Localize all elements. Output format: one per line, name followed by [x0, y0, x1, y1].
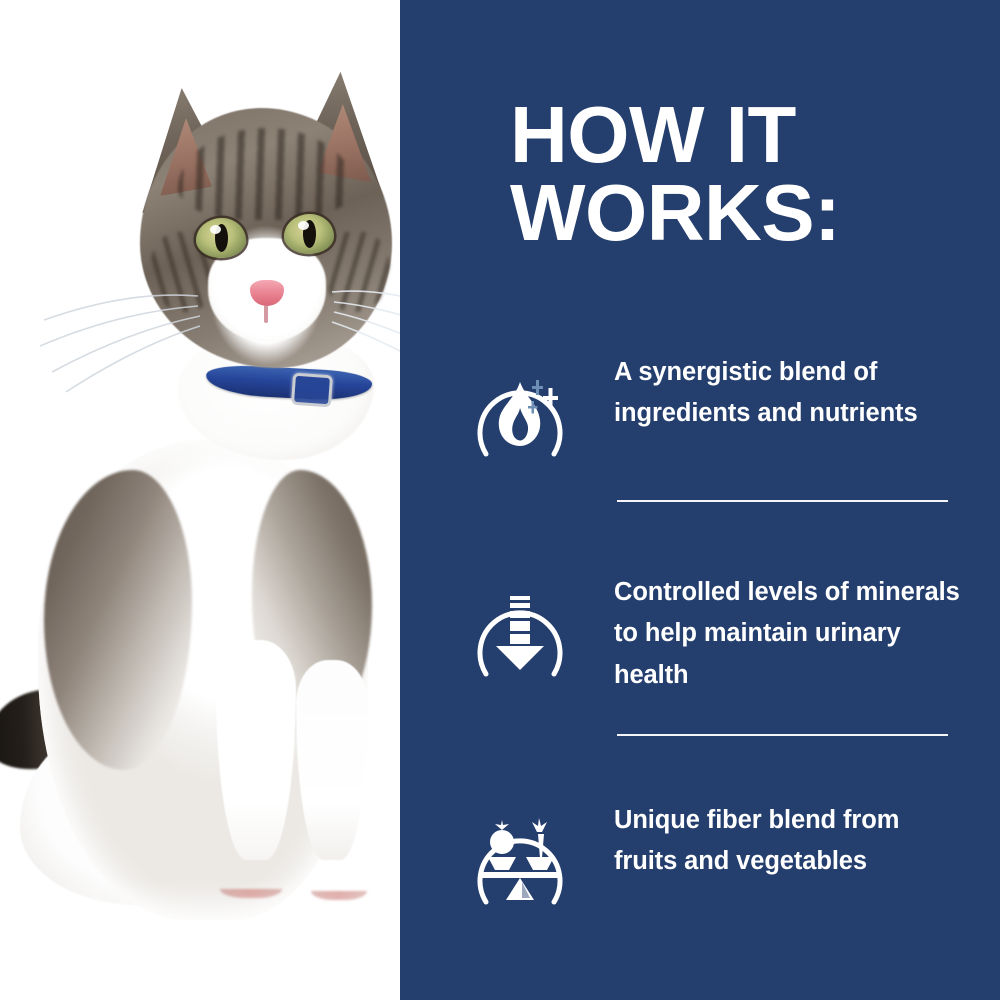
cat-cheek-stripes-right — [328, 232, 390, 312]
feature-text: Controlled levels of minerals to help ma… — [576, 560, 969, 696]
cat-eye-right — [284, 214, 334, 254]
cat-mouth — [264, 305, 268, 323]
feature-text: A synergistic blend of ingredients and n… — [576, 340, 969, 435]
cat-collar-buckle — [291, 373, 333, 408]
feature-list: A synergistic blend of ingredients and n… — [400, 340, 1000, 912]
cat-photo-panel — [0, 0, 400, 1000]
page-title: HOW IT WORKS: — [510, 96, 980, 253]
section-divider — [617, 500, 948, 502]
feature-row-fiber-blend: Unique fiber blend from fruits and veget… — [400, 788, 1000, 912]
feature-text: Unique fiber blend from fruits and veget… — [576, 788, 969, 883]
spacer — [400, 696, 1000, 734]
feature-row-controlled-minerals: Controlled levels of minerals to help ma… — [400, 560, 1000, 696]
spacer — [400, 502, 1000, 560]
flame-sparkle-icon — [464, 346, 576, 464]
cat-eye-left — [196, 218, 246, 258]
infographic-page: HOW IT WORKS: A synergi — [0, 0, 1000, 1000]
cat-shoulder-left — [44, 470, 192, 770]
photo-floor-fade — [0, 880, 400, 1000]
cat-front-leg-right — [296, 660, 368, 860]
spacer — [400, 464, 1000, 500]
balance-scale-icon — [464, 794, 576, 912]
spacer — [400, 736, 1000, 788]
content-panel: HOW IT WORKS: A synergi — [400, 0, 1000, 1000]
feature-row-synergistic-blend: A synergistic blend of ingredients and n… — [400, 340, 1000, 464]
cat-photo — [0, 0, 400, 1000]
down-arrow-icon — [464, 566, 576, 684]
section-divider — [617, 734, 948, 736]
